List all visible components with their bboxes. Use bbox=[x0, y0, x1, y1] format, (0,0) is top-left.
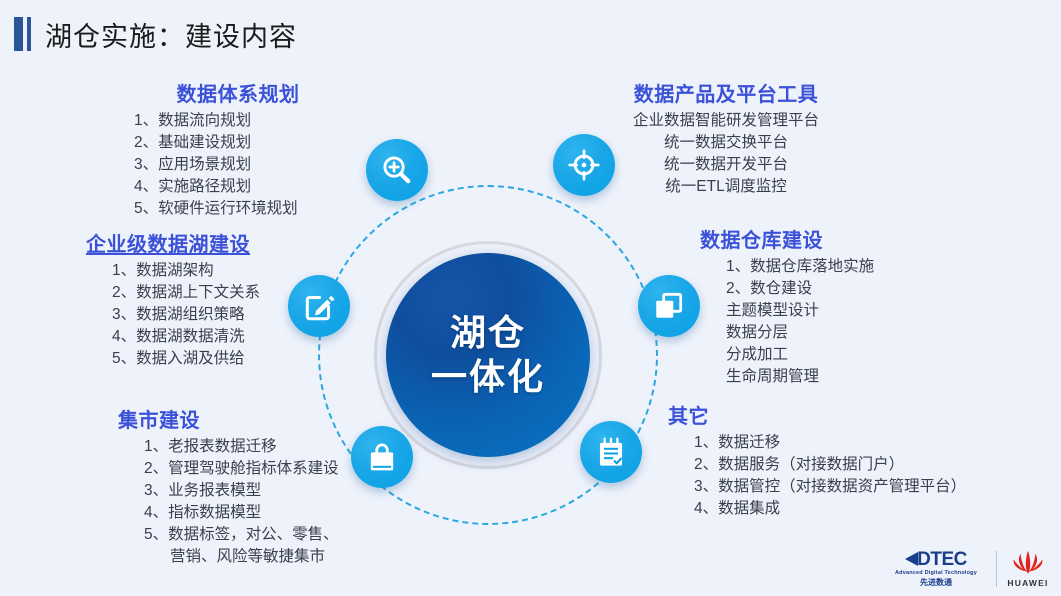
core-label-line2: 一体化 bbox=[431, 355, 545, 399]
block-list: 企业数据智能研发管理平台 统一数据交换平台 统一数据开发平台 统一ETL调度监控 bbox=[595, 110, 857, 198]
block-heading: 其它 bbox=[668, 404, 998, 430]
block-data-warehouse: 数据仓库建设 1、数据仓库落地实施 2、数仓建设 主题模型设计 数据分层 分成加… bbox=[700, 228, 990, 388]
block-list: 1、数据仓库落地实施 2、数仓建设 主题模型设计 数据分层 分成加工 生命周期管… bbox=[700, 256, 990, 388]
block-heading: 集市建设 bbox=[118, 408, 408, 434]
block-list: 1、数据流向规划 2、基础建设规划 3、应用场景规划 4、实施路径规划 5、软硬… bbox=[108, 110, 368, 220]
huawei-word: HUAWEI bbox=[1007, 578, 1048, 588]
node-data-warehouse[interactable] bbox=[638, 275, 700, 337]
list-item: 数据分层 bbox=[700, 322, 990, 344]
block-list: 1、数据湖架构 2、数据湖上下文关系 3、数据湖组织策略 4、数据湖数据清洗 5… bbox=[86, 260, 361, 370]
list-item: 主题模型设计 bbox=[700, 300, 990, 322]
block-data-product-platform: 数据产品及平台工具 企业数据智能研发管理平台 统一数据交换平台 统一数据开发平台… bbox=[595, 82, 857, 198]
core-label-line1: 湖仓 bbox=[450, 311, 526, 355]
list-item: 3、数据管控（对接数据资产管理平台） bbox=[668, 476, 998, 498]
zoom-in-icon bbox=[380, 153, 414, 187]
list-item: 统一数据开发平台 bbox=[595, 154, 857, 176]
list-item: 2、基础建设规划 bbox=[108, 132, 368, 154]
block-heading: 数据产品及平台工具 bbox=[595, 82, 857, 108]
list-item: 生命周期管理 bbox=[700, 366, 990, 388]
block-list: 1、数据迁移 2、数据服务（对接数据门户） 3、数据管控（对接数据资产管理平台）… bbox=[668, 432, 998, 520]
list-item: 2、数据服务（对接数据门户） bbox=[668, 454, 998, 476]
dtec-wordmark: DTEC bbox=[905, 550, 967, 569]
list-item: 1、老报表数据迁移 bbox=[118, 436, 408, 458]
block-data-system-planning: 数据体系规划 1、数据流向规划 2、基础建设规划 3、应用场景规划 4、实施路径… bbox=[108, 82, 368, 220]
dtec-logo: DTEC Advanced Digital Technology 先进数通 bbox=[895, 550, 986, 588]
block-heading: 数据仓库建设 bbox=[700, 228, 990, 254]
dtec-word: DTEC bbox=[917, 550, 967, 569]
node-others[interactable] bbox=[580, 421, 642, 483]
node-data-system-planning[interactable] bbox=[366, 139, 428, 201]
list-item: 5、数据入湖及供给 bbox=[86, 348, 361, 370]
huawei-flower-icon bbox=[1007, 549, 1049, 577]
list-item: 统一数据交换平台 bbox=[595, 132, 857, 154]
core-circle: 湖仓 一体化 bbox=[386, 253, 590, 457]
list-item: 企业数据智能研发管理平台 bbox=[595, 110, 857, 132]
list-item: 5、软硬件运行环境规划 bbox=[108, 198, 368, 220]
layers-icon bbox=[652, 289, 686, 323]
dtec-tagline: Advanced Digital Technology bbox=[895, 569, 977, 577]
block-heading: 企业级数据湖建设 bbox=[86, 232, 361, 258]
footer-logos: DTEC Advanced Digital Technology 先进数通 HU… bbox=[895, 549, 1049, 588]
page-title: 湖仓实施：建设内容 bbox=[45, 15, 297, 54]
list-item: 3、应用场景规划 bbox=[108, 154, 368, 176]
list-item: 1、数据流向规划 bbox=[108, 110, 368, 132]
list-item: 1、数据湖架构 bbox=[86, 260, 361, 282]
list-item: 5、数据标签，对公、零售、 bbox=[118, 524, 408, 546]
list-item: 营销、风险等敏捷集市 bbox=[118, 546, 408, 568]
list-item: 2、数仓建设 bbox=[700, 278, 990, 300]
list-item: 2、管理驾驶舱指标体系建设 bbox=[118, 458, 408, 480]
block-heading: 数据体系规划 bbox=[108, 82, 368, 108]
block-data-mart: 集市建设 1、老报表数据迁移 2、管理驾驶舱指标体系建设 3、业务报表模型 4、… bbox=[118, 408, 408, 568]
dtec-chinese-name: 先进数通 bbox=[920, 577, 952, 588]
logo-divider bbox=[996, 551, 997, 587]
slide-canvas: 湖仓实施：建设内容 湖仓 一体化 bbox=[0, 0, 1061, 596]
list-item: 4、数据湖数据清洗 bbox=[86, 326, 361, 348]
slide-header: 湖仓实施：建设内容 bbox=[0, 10, 297, 58]
list-item: 1、数据仓库落地实施 bbox=[700, 256, 990, 278]
list-item: 4、数据集成 bbox=[668, 498, 998, 520]
huawei-logo: HUAWEI bbox=[1007, 549, 1049, 588]
list-item: 4、实施路径规划 bbox=[108, 176, 368, 198]
list-item: 4、指标数据模型 bbox=[118, 502, 408, 524]
list-item: 1、数据迁移 bbox=[668, 432, 998, 454]
list-item: 3、业务报表模型 bbox=[118, 480, 408, 502]
list-item: 统一ETL调度监控 bbox=[595, 176, 857, 198]
block-enterprise-data-lake: 企业级数据湖建设 1、数据湖架构 2、数据湖上下文关系 3、数据湖组织策略 4、… bbox=[86, 232, 361, 370]
list-item: 分成加工 bbox=[700, 344, 990, 366]
block-others: 其它 1、数据迁移 2、数据服务（对接数据门户） 3、数据管控（对接数据资产管理… bbox=[668, 404, 998, 520]
checklist-icon bbox=[594, 435, 628, 469]
title-accent-bars bbox=[14, 17, 31, 51]
list-item: 2、数据湖上下文关系 bbox=[86, 282, 361, 304]
list-item: 3、数据湖组织策略 bbox=[86, 304, 361, 326]
block-list: 1、老报表数据迁移 2、管理驾驶舱指标体系建设 3、业务报表模型 4、指标数据模… bbox=[118, 436, 408, 568]
